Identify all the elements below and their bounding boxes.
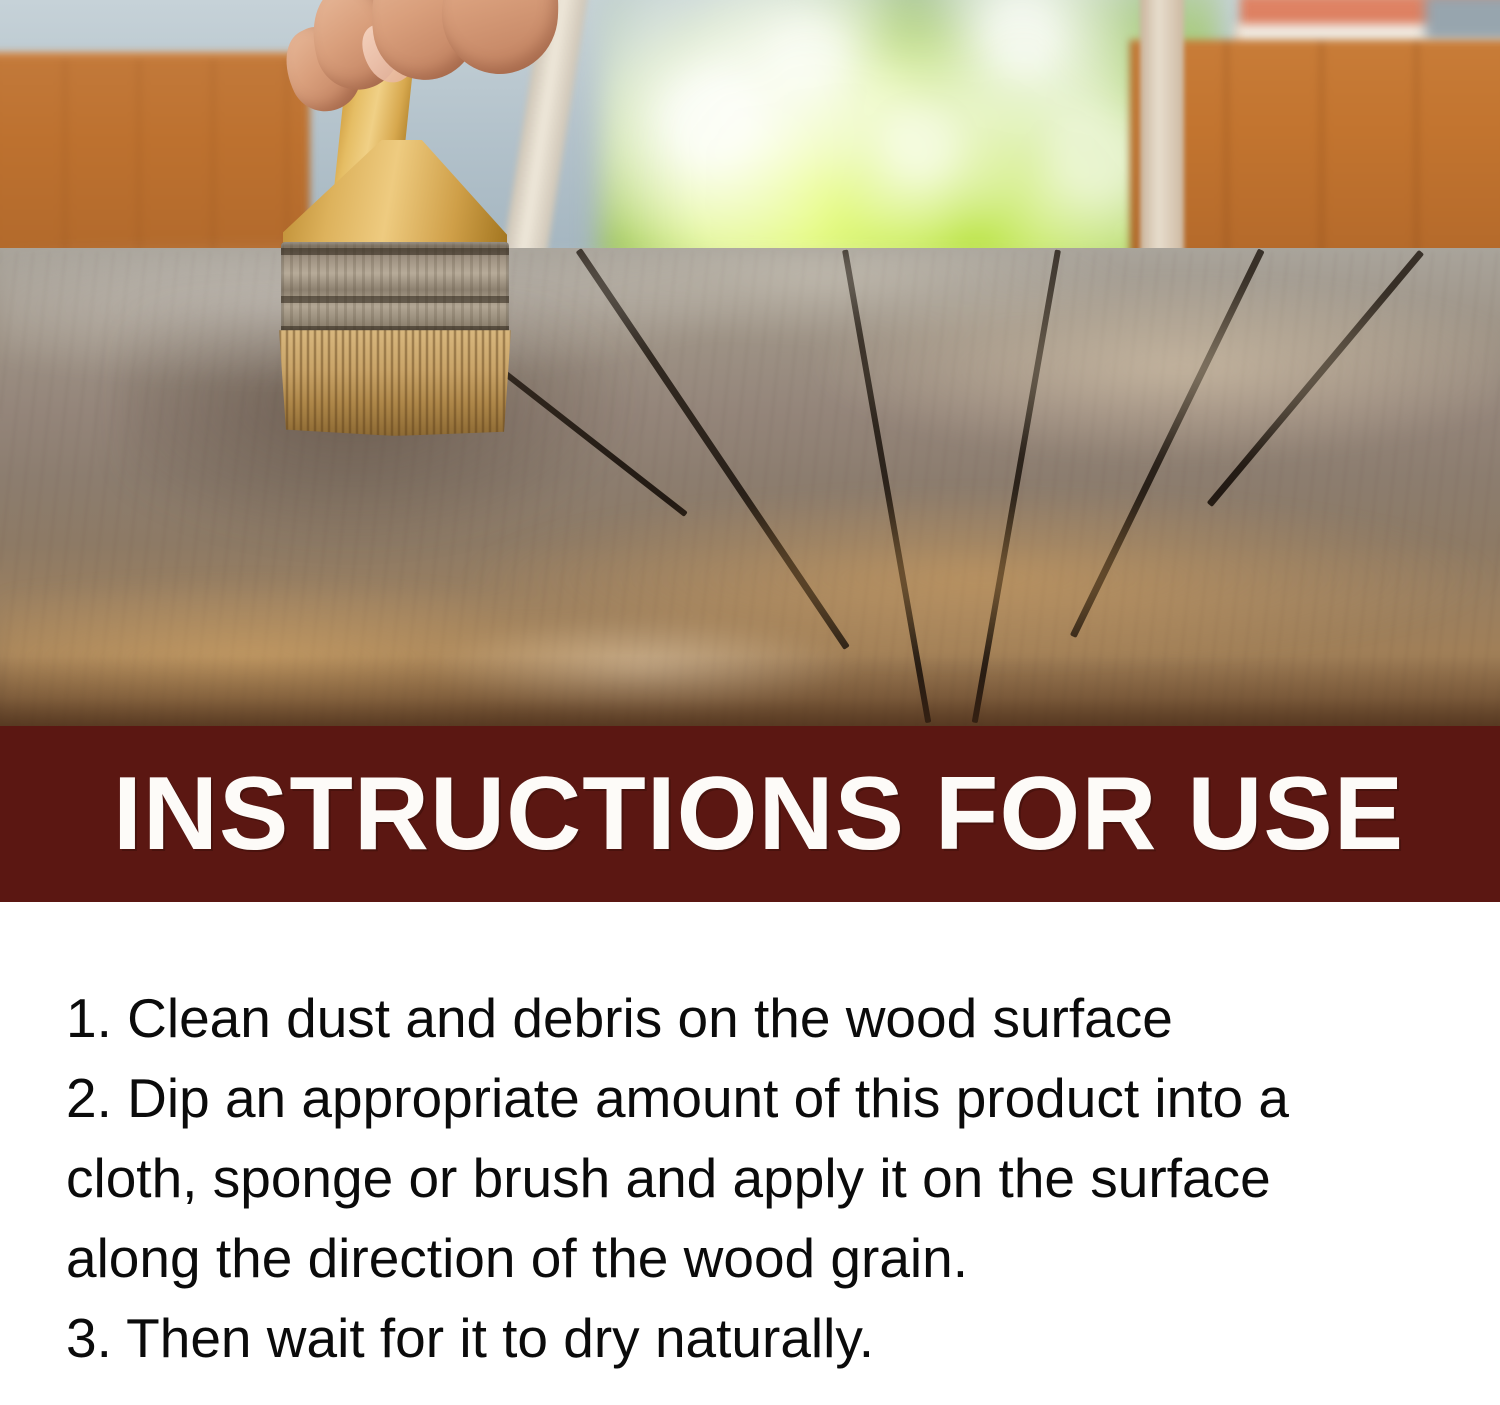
product-instructions-page: INSTRUCTIONS FOR USE 1. Clean dust and d… xyxy=(0,0,1500,1405)
page-title: INSTRUCTIONS FOR USE xyxy=(113,762,1404,866)
paintbrush xyxy=(255,0,585,430)
instructions-body: 1. Clean dust and debris on the wood sur… xyxy=(0,902,1500,1405)
brush-ferrule xyxy=(281,242,509,334)
instruction-line: along the direction of the wood grain. xyxy=(66,1218,1440,1298)
hero-photo xyxy=(0,0,1500,726)
instruction-line: 3. Then wait for it to dry naturally. xyxy=(66,1298,1440,1378)
foliage-bokeh xyxy=(600,0,1220,270)
instruction-line: 1. Clean dust and debris on the wood sur… xyxy=(66,978,1440,1058)
brush-bristles xyxy=(279,330,511,436)
background-grey-patch xyxy=(1425,0,1500,41)
instruction-line: 2. Dip an appropriate amount of this pro… xyxy=(66,1058,1440,1138)
instructions-banner: INSTRUCTIONS FOR USE xyxy=(0,726,1500,902)
ferrule-band xyxy=(281,296,509,303)
ferrule-band xyxy=(281,248,509,255)
instruction-line: cloth, sponge or brush and apply it on t… xyxy=(66,1138,1440,1218)
deck-foreground-shadow xyxy=(0,656,1500,726)
hand xyxy=(275,0,575,160)
